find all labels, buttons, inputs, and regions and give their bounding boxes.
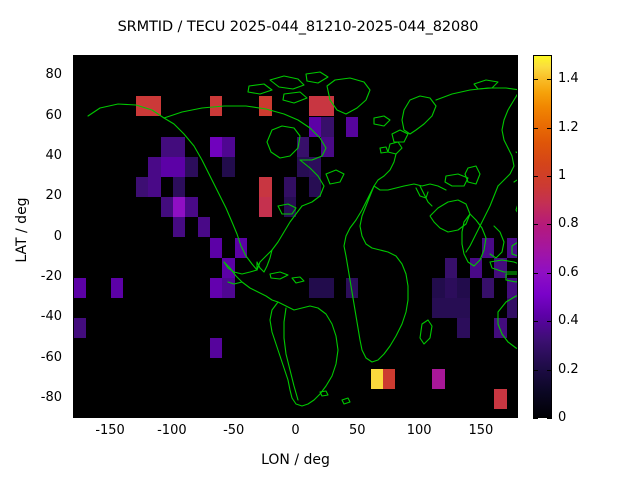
x-tick-label: -100: [142, 423, 202, 438]
y-tick-mark: [73, 75, 78, 76]
x-tick-label: -50: [204, 423, 264, 438]
page-title: SRMTID / TECU 2025-044_81210-2025-044_82…: [0, 19, 596, 35]
x-tick-mark: [110, 413, 111, 418]
colorbar[interactable]: [533, 55, 552, 418]
colorbar-tick-label: 1.4: [558, 71, 579, 86]
colorbar-tick-mark: [547, 370, 552, 371]
x-tick-mark: [172, 413, 173, 418]
x-tick-label: 150: [451, 423, 511, 438]
x-tick-mark: [481, 413, 482, 418]
colorbar-tick-mark: [547, 273, 552, 274]
y-tick-label: -80: [18, 390, 62, 405]
colorbar-tick-mark: [533, 418, 538, 419]
y-tick-mark: [73, 196, 78, 197]
x-tick-mark: [234, 413, 235, 418]
y-tick-label: 60: [18, 108, 62, 123]
y-tick-label: 40: [18, 148, 62, 163]
colorbar-tick-mark: [547, 321, 552, 322]
x-tick-mark: [357, 413, 358, 418]
colorbar-tick-label: 1: [558, 168, 566, 183]
x-tick-label: 100: [389, 423, 449, 438]
colorbar-tick-label: 0.8: [558, 216, 579, 231]
y-tick-mark: [73, 237, 78, 238]
x-tick-label: 50: [327, 423, 387, 438]
colorbar-tick-mark: [547, 79, 552, 80]
colorbar-tick-mark: [533, 128, 538, 129]
coastline-overlay: [74, 56, 518, 418]
colorbar-tick-mark: [533, 176, 538, 177]
colorbar-tick-label: 0: [558, 410, 566, 425]
figure-canvas: SRMTID / TECU 2025-044_81210-2025-044_82…: [0, 0, 640, 480]
colorbar-tick-label: 0.2: [558, 362, 579, 377]
colorbar-tick-label: 0.4: [558, 313, 579, 328]
y-tick-mark: [73, 317, 78, 318]
y-tick-label: 0: [18, 229, 62, 244]
y-tick-mark: [73, 116, 78, 117]
colorbar-tick-mark: [533, 370, 538, 371]
x-tick-label: -150: [80, 423, 140, 438]
y-tick-label: 20: [18, 188, 62, 203]
y-tick-label: -40: [18, 309, 62, 324]
colorbar-tick-mark: [547, 418, 552, 419]
colorbar-tick-mark: [547, 128, 552, 129]
y-tick-label: -20: [18, 269, 62, 284]
y-tick-label: 80: [18, 67, 62, 82]
colorbar-tick-mark: [533, 224, 538, 225]
y-tick-mark: [73, 277, 78, 278]
colorbar-tick-mark: [533, 321, 538, 322]
x-tick-mark: [419, 413, 420, 418]
y-tick-label: -60: [18, 350, 62, 365]
colorbar-tick-mark: [533, 79, 538, 80]
x-tick-mark: [296, 413, 297, 418]
x-axis-label: LON / deg: [73, 452, 518, 468]
colorbar-tick-mark: [533, 273, 538, 274]
colorbar-tick-mark: [547, 176, 552, 177]
colorbar-gradient: [534, 56, 551, 417]
colorbar-tick-mark: [547, 224, 552, 225]
y-tick-mark: [73, 398, 78, 399]
y-tick-mark: [73, 358, 78, 359]
colorbar-tick-label: 0.6: [558, 265, 579, 280]
y-tick-mark: [73, 156, 78, 157]
x-tick-label: 0: [266, 423, 326, 438]
map-plot-area[interactable]: [73, 55, 518, 418]
colorbar-tick-label: 1.2: [558, 120, 579, 135]
